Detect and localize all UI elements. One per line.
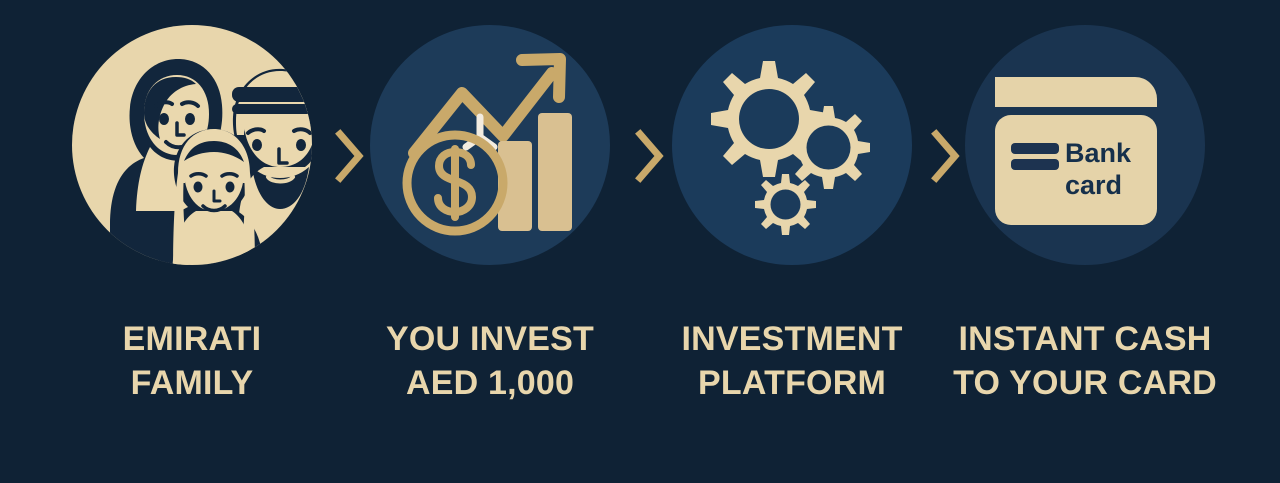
gears-icon bbox=[672, 25, 912, 265]
label-line: INSTANT CASH bbox=[935, 318, 1235, 362]
label-line: INVESTMENT bbox=[642, 318, 942, 362]
growth-chart-money-icon bbox=[370, 25, 610, 265]
step-4-label: INSTANT CASH TO YOUR CARD bbox=[935, 318, 1235, 405]
step-2-label: YOU INVEST AED 1,000 bbox=[340, 318, 640, 405]
step-instant-cash: Bank card INSTANT CASH TO YOUR CARD bbox=[935, 0, 1235, 483]
step-emirati-family: EMIRATI FAMILY bbox=[42, 0, 342, 483]
step-4-icon-circle: Bank card bbox=[965, 25, 1205, 265]
label-line: EMIRATI bbox=[42, 318, 342, 362]
bank-card-icon: Bank card bbox=[965, 25, 1205, 265]
process-infographic: EMIRATI FAMILY bbox=[0, 0, 1280, 483]
card-text-line-1: Bank bbox=[1065, 138, 1132, 168]
step-3-icon-circle bbox=[672, 25, 912, 265]
step-1-label: EMIRATI FAMILY bbox=[42, 318, 342, 405]
label-line: PLATFORM bbox=[642, 362, 942, 406]
label-line: TO YOUR CARD bbox=[935, 362, 1235, 406]
step-2-icon-circle bbox=[370, 25, 610, 265]
family-icon bbox=[72, 25, 312, 265]
step-you-invest: YOU INVEST AED 1,000 bbox=[340, 0, 640, 483]
card-text-line-2: card bbox=[1065, 170, 1122, 200]
label-line: YOU INVEST bbox=[340, 318, 640, 362]
label-line: AED 1,000 bbox=[340, 362, 640, 406]
step-1-icon-circle bbox=[72, 25, 312, 265]
step-3-label: INVESTMENT PLATFORM bbox=[642, 318, 942, 405]
label-line: FAMILY bbox=[42, 362, 342, 406]
step-investment-platform: INVESTMENT PLATFORM bbox=[642, 0, 942, 483]
